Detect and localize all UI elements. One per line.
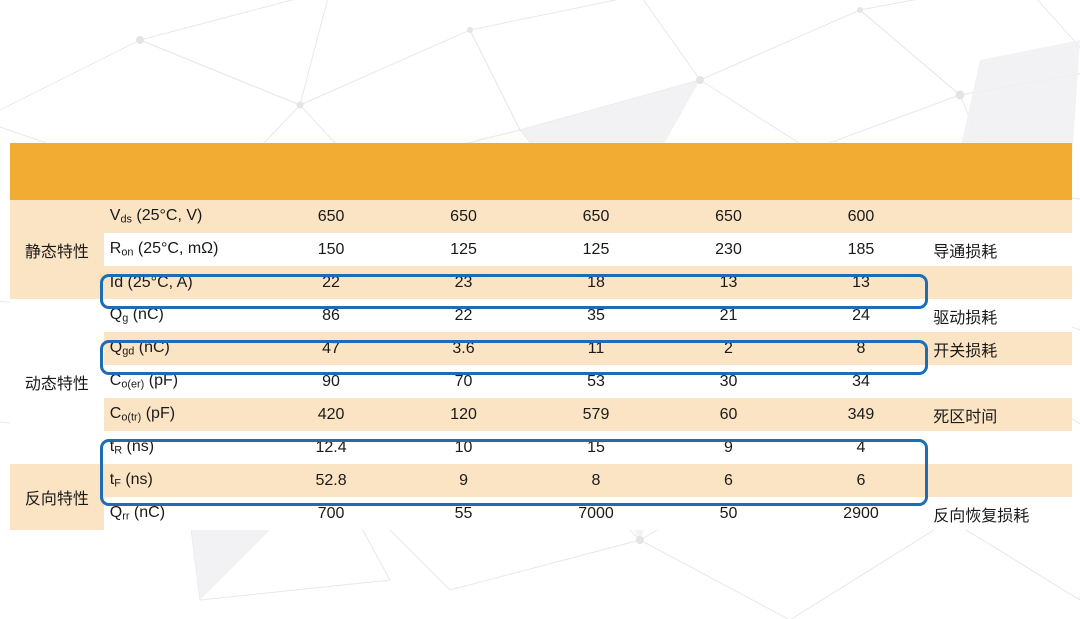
value-cell-1: 23 bbox=[397, 266, 529, 299]
value-cell-3: 60 bbox=[662, 398, 794, 431]
loss-type-cell bbox=[927, 431, 1072, 464]
value-cell-2: 11 bbox=[530, 332, 662, 365]
table-row: Ron (25°C, mΩ)150125125230185导通损耗 bbox=[10, 233, 1072, 266]
table-row: Qrr (nC)700557000502900反向恢复损耗 bbox=[10, 497, 1072, 530]
header-col-3 bbox=[662, 143, 794, 200]
loss-type-cell bbox=[927, 464, 1072, 497]
table-body: 静态特性Vds (25°C, V)650650650650600Ron (25°… bbox=[10, 200, 1072, 530]
value-cell-2: 53 bbox=[530, 365, 662, 398]
parameter-cell: tR (ns) bbox=[104, 431, 265, 464]
value-cell-4: 4 bbox=[795, 431, 927, 464]
value-cell-1: 120 bbox=[397, 398, 529, 431]
parameter-cell: Vds (25°C, V) bbox=[104, 200, 265, 233]
value-cell-2: 8 bbox=[530, 464, 662, 497]
value-cell-4: 13 bbox=[795, 266, 927, 299]
value-cell-4: 34 bbox=[795, 365, 927, 398]
loss-type-cell bbox=[927, 266, 1072, 299]
value-cell-3: 9 bbox=[662, 431, 794, 464]
parameter-cell: Qg (nC) bbox=[104, 299, 265, 332]
value-cell-1: 10 bbox=[397, 431, 529, 464]
value-cell-0: 12.4 bbox=[265, 431, 397, 464]
category-cell-2: 反向特性 bbox=[10, 464, 104, 530]
header-row bbox=[10, 143, 1072, 200]
table-row: tR (ns)12.4101594 bbox=[10, 431, 1072, 464]
parameter-cell: Ron (25°C, mΩ) bbox=[104, 233, 265, 266]
table-header bbox=[10, 143, 1072, 200]
category-cell-0: 静态特性 bbox=[10, 200, 104, 299]
value-cell-0: 22 bbox=[265, 266, 397, 299]
header-col-0 bbox=[265, 143, 397, 200]
value-cell-0: 47 bbox=[265, 332, 397, 365]
header-col-4 bbox=[795, 143, 927, 200]
loss-type-cell: 死区时间 bbox=[927, 398, 1072, 431]
loss-type-cell bbox=[927, 200, 1072, 233]
value-cell-2: 125 bbox=[530, 233, 662, 266]
value-cell-1: 125 bbox=[397, 233, 529, 266]
value-cell-4: 8 bbox=[795, 332, 927, 365]
value-cell-3: 230 bbox=[662, 233, 794, 266]
value-cell-3: 50 bbox=[662, 497, 794, 530]
header-category bbox=[10, 143, 104, 200]
value-cell-2: 15 bbox=[530, 431, 662, 464]
value-cell-3: 30 bbox=[662, 365, 794, 398]
value-cell-2: 579 bbox=[530, 398, 662, 431]
table-row: 静态特性Vds (25°C, V)650650650650600 bbox=[10, 200, 1072, 233]
value-cell-3: 6 bbox=[662, 464, 794, 497]
table-row: Qgd (nC)473.61128开关损耗 bbox=[10, 332, 1072, 365]
parameter-cell: Co(er) (pF) bbox=[104, 365, 265, 398]
value-cell-0: 650 bbox=[265, 200, 397, 233]
parameter-cell: Qrr (nC) bbox=[104, 497, 265, 530]
value-cell-3: 650 bbox=[662, 200, 794, 233]
value-cell-4: 2900 bbox=[795, 497, 927, 530]
header-col-2 bbox=[530, 143, 662, 200]
loss-type-cell: 开关损耗 bbox=[927, 332, 1072, 365]
loss-type-cell bbox=[927, 365, 1072, 398]
table-row: 反向特性tF (ns)52.89866 bbox=[10, 464, 1072, 497]
parameter-cell: Qgd (nC) bbox=[104, 332, 265, 365]
value-cell-0: 700 bbox=[265, 497, 397, 530]
value-cell-4: 185 bbox=[795, 233, 927, 266]
value-cell-4: 349 bbox=[795, 398, 927, 431]
value-cell-0: 52.8 bbox=[265, 464, 397, 497]
value-cell-1: 22 bbox=[397, 299, 529, 332]
value-cell-0: 420 bbox=[265, 398, 397, 431]
value-cell-1: 70 bbox=[397, 365, 529, 398]
value-cell-2: 650 bbox=[530, 200, 662, 233]
loss-type-cell: 驱动损耗 bbox=[927, 299, 1072, 332]
value-cell-2: 18 bbox=[530, 266, 662, 299]
value-cell-4: 6 bbox=[795, 464, 927, 497]
value-cell-1: 55 bbox=[397, 497, 529, 530]
value-cell-0: 90 bbox=[265, 365, 397, 398]
header-loss-type bbox=[927, 143, 1072, 200]
value-cell-4: 600 bbox=[795, 200, 927, 233]
header-parameter bbox=[104, 143, 265, 200]
parameter-cell: Co(tr) (pF) bbox=[104, 398, 265, 431]
slide-canvas: 静态特性Vds (25°C, V)650650650650600Ron (25°… bbox=[0, 0, 1080, 619]
value-cell-2: 35 bbox=[530, 299, 662, 332]
table-row: Id (25°C, A)2223181313 bbox=[10, 266, 1072, 299]
value-cell-2: 7000 bbox=[530, 497, 662, 530]
value-cell-3: 2 bbox=[662, 332, 794, 365]
parameter-cell: tF (ns) bbox=[104, 464, 265, 497]
value-cell-3: 13 bbox=[662, 266, 794, 299]
table-row: Co(tr) (pF)42012057960349死区时间 bbox=[10, 398, 1072, 431]
loss-type-cell: 反向恢复损耗 bbox=[927, 497, 1072, 530]
category-cell-1: 动态特性 bbox=[10, 299, 104, 464]
parameter-cell: Id (25°C, A) bbox=[104, 266, 265, 299]
value-cell-0: 150 bbox=[265, 233, 397, 266]
loss-type-cell: 导通损耗 bbox=[927, 233, 1072, 266]
value-cell-0: 86 bbox=[265, 299, 397, 332]
value-cell-1: 9 bbox=[397, 464, 529, 497]
value-cell-4: 24 bbox=[795, 299, 927, 332]
table-row: 动态特性Qg (nC)8622352124驱动损耗 bbox=[10, 299, 1072, 332]
value-cell-1: 3.6 bbox=[397, 332, 529, 365]
spec-table: 静态特性Vds (25°C, V)650650650650600Ron (25°… bbox=[10, 143, 1072, 530]
value-cell-1: 650 bbox=[397, 200, 529, 233]
value-cell-3: 21 bbox=[662, 299, 794, 332]
spec-table-container: 静态特性Vds (25°C, V)650650650650600Ron (25°… bbox=[10, 143, 1072, 530]
header-col-1 bbox=[397, 143, 529, 200]
table-row: Co(er) (pF)9070533034 bbox=[10, 365, 1072, 398]
